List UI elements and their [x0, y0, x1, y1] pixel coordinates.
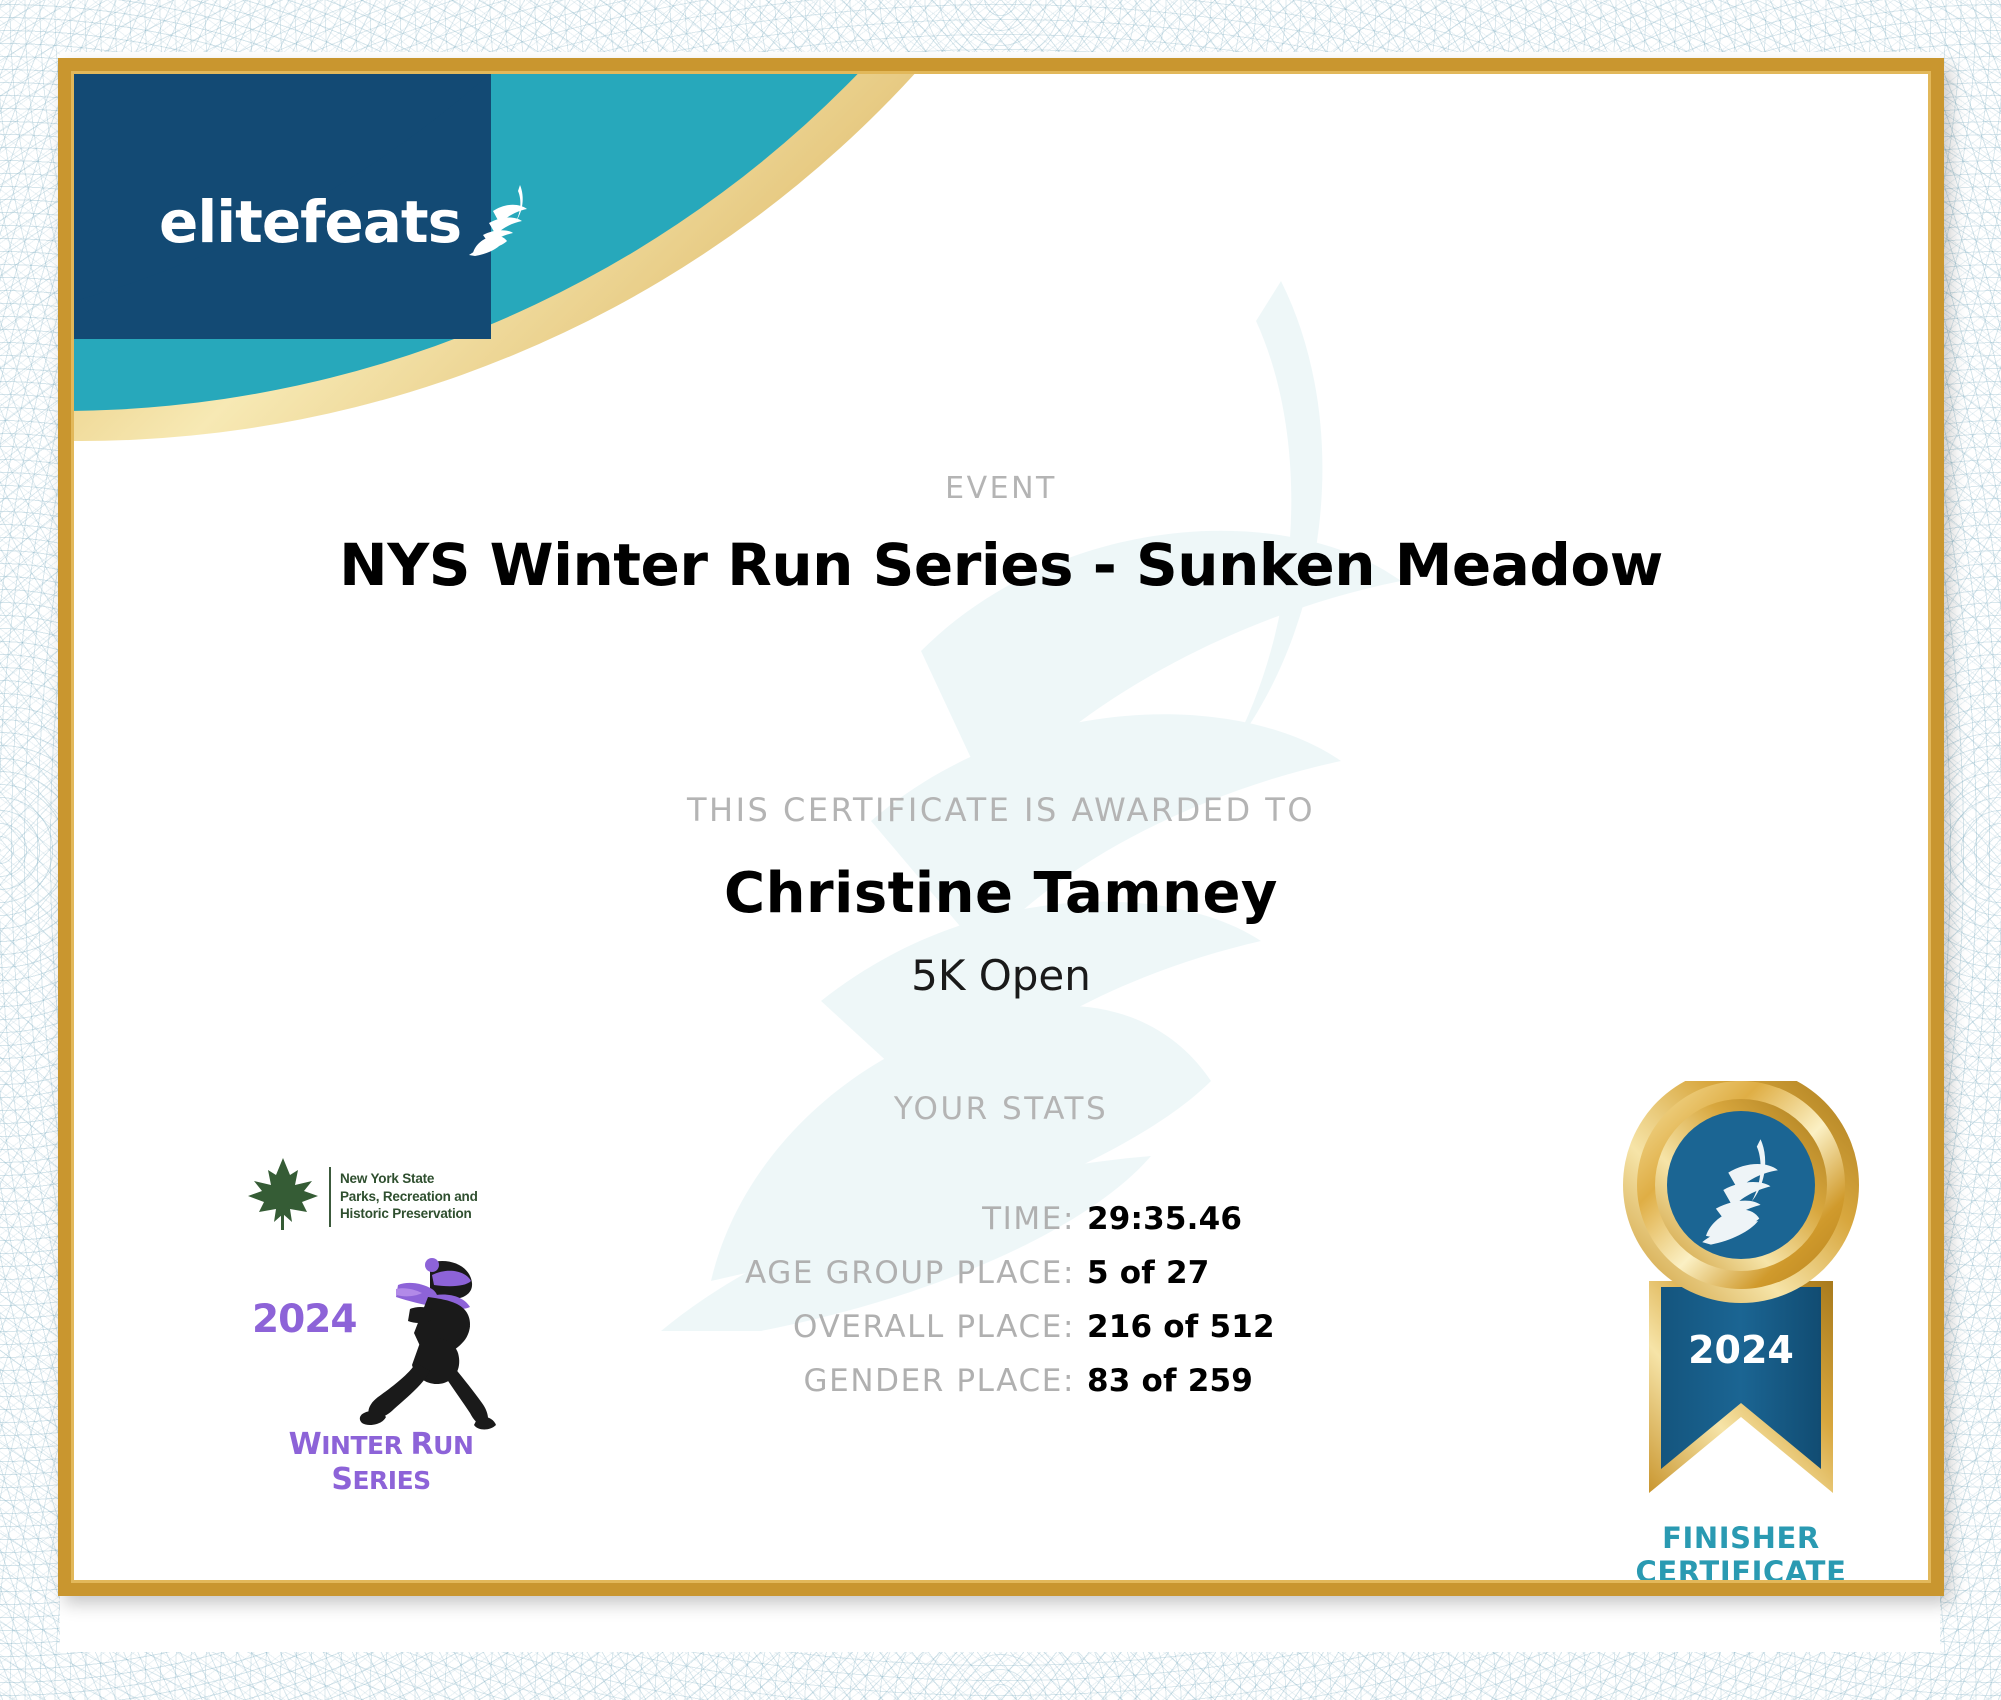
nys-parks-logo: New York State Parks, Recreation and His…	[246, 1156, 566, 1237]
medal-ribbon-graphic: 2024	[1591, 1081, 1891, 1521]
stat-value-age-group-place: 5 of 27	[1087, 1255, 1487, 1291]
winter-run-series-logo: New York State Parks, Recreation and His…	[246, 1156, 566, 1449]
stat-label-gender-place: GENDER PLACE:	[515, 1363, 1087, 1399]
badge-year: 2024	[1688, 1328, 1794, 1372]
certificate-card: elitefeats	[58, 58, 1944, 1596]
awarded-to-label: THIS CERTIFICATE IS AWARDED TO	[71, 791, 1931, 829]
recipient-name: Christine Tamney	[71, 861, 1931, 926]
nys-parks-text: New York State Parks, Recreation and His…	[340, 1170, 478, 1223]
series-title-un: UN	[433, 1431, 473, 1460]
certificate-content: EVENT NYS Winter Run Series - Sunken Mea…	[71, 71, 1931, 1583]
nys-line-3: Historic Preservation	[340, 1205, 478, 1223]
series-title-eries: ERIES	[352, 1466, 430, 1495]
series-title-w: W	[289, 1427, 322, 1462]
elitefeats-logo-text: elitefeats	[159, 188, 461, 256]
stat-value-overall-place: 216 of 512	[1087, 1309, 1487, 1345]
badge-caption: FINISHER CERTIFICATE	[1591, 1521, 1891, 1589]
event-title: NYS Winter Run Series - Sunken Meadow	[71, 531, 1931, 599]
stat-value-time: 29:35.46	[1087, 1201, 1487, 1237]
nys-logo-divider	[329, 1167, 331, 1227]
maple-leaf-icon	[246, 1156, 320, 1237]
division-name: 5K Open	[71, 951, 1931, 1000]
series-year: 2024	[252, 1297, 357, 1342]
nys-line-2: Parks, Recreation and	[340, 1188, 478, 1206]
event-label: EVENT	[71, 471, 1931, 506]
winter-run-series-art: 2024	[246, 1259, 566, 1449]
series-title-r: R	[411, 1427, 434, 1462]
badge-caption-line-2: CERTIFICATE	[1591, 1555, 1891, 1589]
series-title: WINTER RUN SERIES	[246, 1427, 516, 1497]
elitefeats-logo: elitefeats	[159, 179, 541, 264]
series-title-s: S	[331, 1462, 352, 1497]
finisher-medal-badge: 2024 FINISHER CERTIFICATE	[1591, 1081, 1891, 1526]
certificate-page: elitefeats	[0, 0, 2001, 1700]
nys-line-1: New York State	[340, 1170, 478, 1188]
series-title-inter: INTER	[321, 1431, 410, 1460]
stat-label-overall-place: OVERALL PLACE:	[515, 1309, 1087, 1345]
stat-value-gender-place: 83 of 259	[1087, 1363, 1487, 1399]
winged-foot-icon	[463, 183, 541, 264]
stat-label-age-group-place: AGE GROUP PLACE:	[515, 1255, 1087, 1291]
badge-caption-line-1: FINISHER	[1591, 1521, 1891, 1555]
stat-label-time: TIME:	[515, 1201, 1087, 1237]
runner-silhouette-icon	[352, 1255, 512, 1440]
